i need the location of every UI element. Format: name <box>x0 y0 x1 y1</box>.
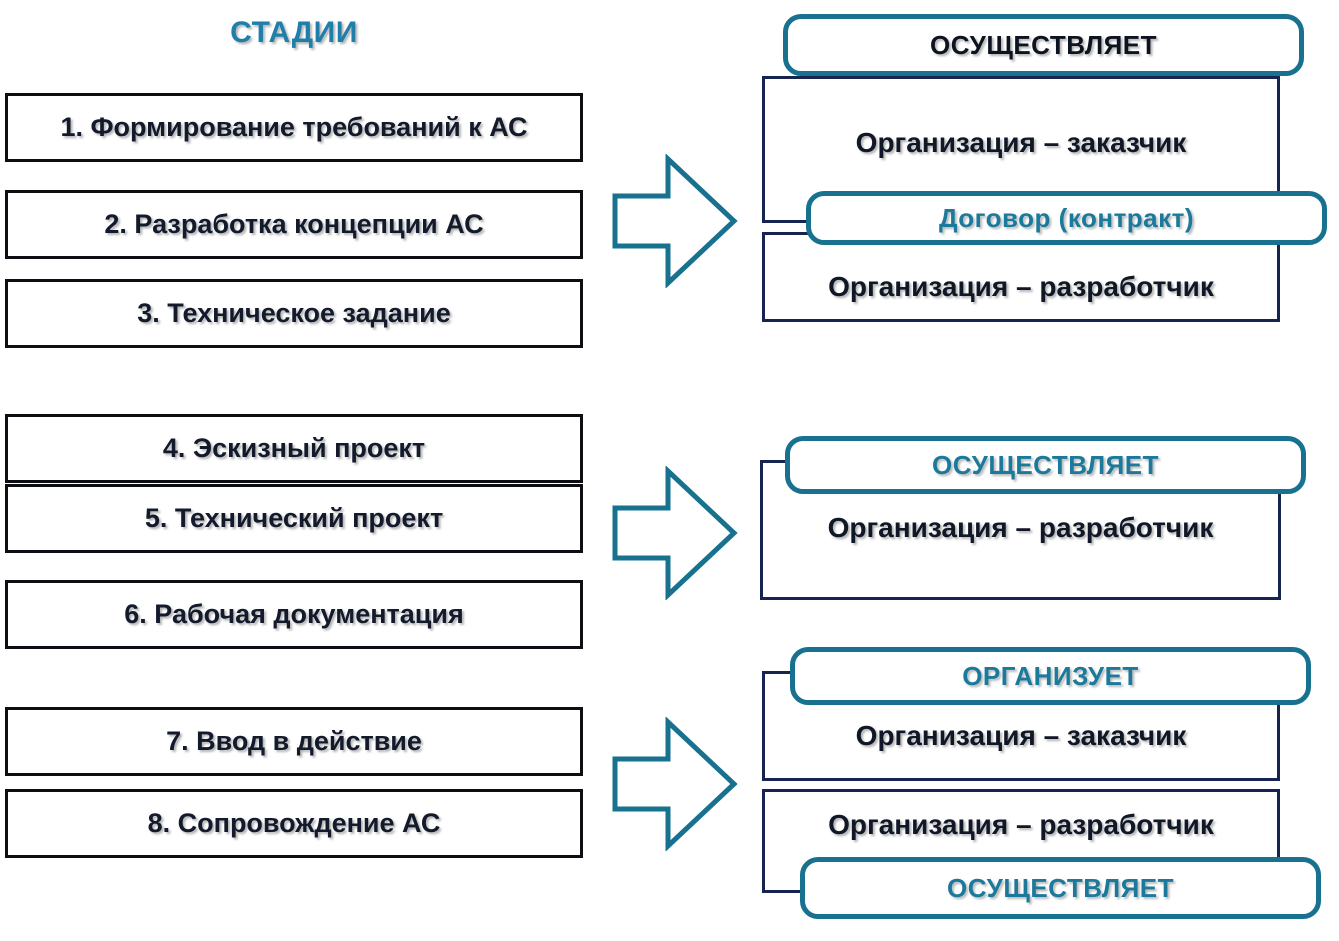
stage-label-8: 8. Сопровождение АС <box>148 808 441 839</box>
group1-developer-rect[interactable]: Организация – разработчик <box>762 232 1280 322</box>
group1-customer-label: Организация – заказчик <box>765 127 1277 159</box>
group3-footer-pill-label: ОСУЩЕСТВЛЯЕТ <box>947 873 1174 904</box>
group1-contract-pill-label: Договор (контракт) <box>939 203 1194 234</box>
stage-box-7[interactable]: 7. Ввод в действие <box>5 707 583 776</box>
arrow-right-icon-2 <box>610 466 740 600</box>
diagram-canvas: СТАДИИ 1. Формирование требований к АС 2… <box>0 0 1339 941</box>
stage-box-4[interactable]: 4. Эскизный проект <box>5 414 583 483</box>
group1-header-pill[interactable]: ОСУЩЕСТВЛЯЕТ <box>783 14 1304 76</box>
stage-box-6[interactable]: 6. Рабочая документация <box>5 580 583 649</box>
stage-label-3: 3. Техническое задание <box>137 298 450 329</box>
group2-header-pill[interactable]: ОСУЩЕСТВЛЯЕТ <box>785 436 1306 494</box>
stage-label-5: 5. Технический проект <box>145 503 443 534</box>
group3-footer-pill[interactable]: ОСУЩЕСТВЛЯЕТ <box>800 857 1321 919</box>
group1-developer-label: Организация – разработчик <box>765 271 1277 303</box>
group3-developer-label: Организация – разработчик <box>765 809 1277 841</box>
stage-label-4: 4. Эскизный проект <box>163 433 425 464</box>
group3-header-pill[interactable]: ОРГАНИЗУЕТ <box>790 647 1311 705</box>
group3-header-pill-label: ОРГАНИЗУЕТ <box>962 661 1139 692</box>
stages-column-title: СТАДИИ <box>0 16 588 50</box>
stage-box-2[interactable]: 2. Разработка концепции АС <box>5 190 583 259</box>
group1-contract-pill[interactable]: Договор (контракт) <box>806 191 1327 245</box>
arrow-right-icon-3 <box>610 717 740 851</box>
group3-customer-label: Организация – заказчик <box>765 720 1277 752</box>
stage-label-1: 1. Формирование требований к АС <box>60 112 527 143</box>
stage-box-8[interactable]: 8. Сопровождение АС <box>5 789 583 858</box>
stage-label-6: 6. Рабочая документация <box>124 599 463 630</box>
stage-box-5[interactable]: 5. Технический проект <box>5 484 583 553</box>
arrow-right-icon-1 <box>610 154 740 288</box>
group2-developer-label: Организация – разработчик <box>763 512 1278 544</box>
stage-box-3[interactable]: 3. Техническое задание <box>5 279 583 348</box>
stage-label-2: 2. Разработка концепции АС <box>104 209 483 240</box>
stage-box-1[interactable]: 1. Формирование требований к АС <box>5 93 583 162</box>
stage-label-7: 7. Ввод в действие <box>166 726 422 757</box>
group1-header-pill-label: ОСУЩЕСТВЛЯЕТ <box>930 30 1157 61</box>
group2-header-pill-label: ОСУЩЕСТВЛЯЕТ <box>932 450 1159 481</box>
